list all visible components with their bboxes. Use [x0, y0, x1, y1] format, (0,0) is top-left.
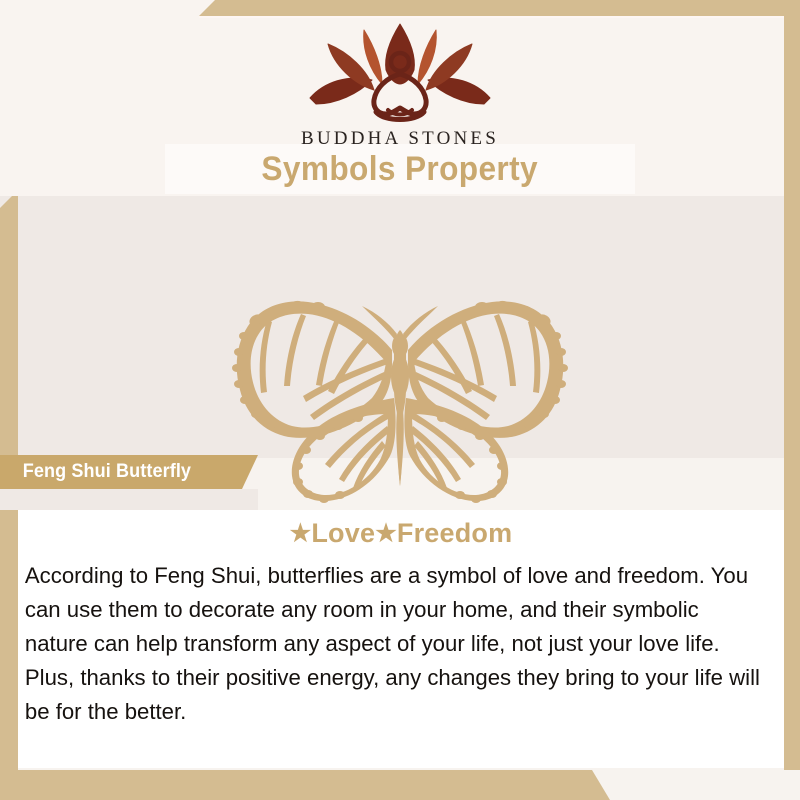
- monarch-butterfly-silhouette-icon: [220, 290, 580, 505]
- lotus-meditation-figure-icon: [302, 22, 498, 126]
- content-subheading: ★Love★Freedom: [18, 510, 784, 549]
- decorative-top-hairline: [199, 16, 784, 18]
- butterfly-illustration: [220, 290, 580, 510]
- content-paragraph: According to Feng Shui, butterflies are …: [18, 549, 773, 729]
- subheading-word-two: Freedom: [397, 518, 512, 548]
- star-icon-left: ★: [290, 520, 312, 547]
- content-panel: ★Love★Freedom According to Feng Shui, bu…: [18, 510, 784, 768]
- page-title: Symbols Property: [262, 150, 539, 189]
- page-title-band: Symbols Property: [165, 144, 635, 194]
- poster-root: BUDDHA STONES Symbols Property: [0, 0, 800, 800]
- ribbon-gap-fill: [0, 489, 258, 510]
- star-icon-middle: ★: [375, 520, 397, 547]
- section-ribbon: Feng Shui Butterfly: [0, 455, 258, 489]
- section-ribbon-label: Feng Shui Butterfly: [0, 461, 191, 483]
- brand-logo: BUDDHA STONES: [0, 22, 800, 150]
- subheading-word-one: Love: [311, 518, 375, 548]
- decorative-bottom-gold-band: [0, 770, 800, 800]
